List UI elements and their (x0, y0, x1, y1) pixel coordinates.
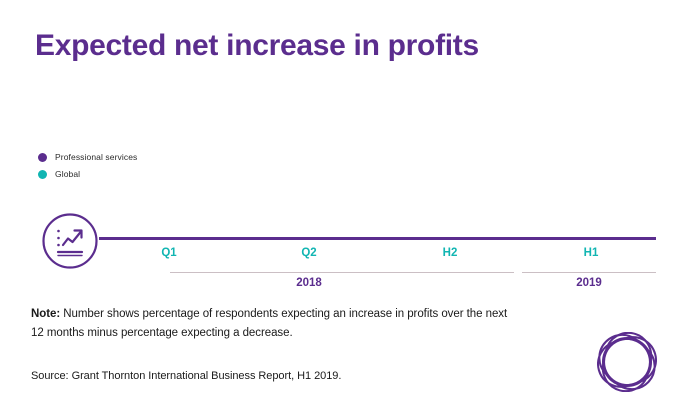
axis-tick-q2: Q2 (283, 247, 335, 259)
legend-dot-icon (38, 153, 47, 162)
year-group-rule-2018 (170, 272, 514, 273)
page-title: Expected net increase in profits (35, 29, 479, 62)
chart-note-prefix: Note: (31, 308, 60, 320)
legend-dot-icon (38, 170, 47, 179)
legend-item-professional-services: Professional services (38, 150, 137, 164)
legend-item-global: Global (38, 167, 137, 181)
axis-tick-h2: H2 (424, 247, 476, 259)
grant-thornton-swirl-logo (597, 332, 657, 392)
chart-note: Note: Number shows percentage of respond… (31, 305, 521, 342)
year-group-label-2018: 2018 (262, 277, 356, 289)
chart-legend: Professional services Global (38, 150, 137, 184)
trend-up-chart-icon (41, 212, 99, 270)
axis-tick-q1: Q1 (143, 247, 195, 259)
year-group-label-2019: 2019 (542, 277, 636, 289)
year-group-rule-2019 (522, 272, 656, 273)
chart-axis-line (99, 237, 656, 240)
axis-tick-h1: H1 (565, 247, 617, 259)
chart-source: Source: Grant Thornton International Bus… (31, 370, 341, 382)
chart-note-text: Number shows percentage of respondents e… (31, 308, 507, 339)
legend-label: Professional services (55, 152, 137, 162)
legend-label: Global (55, 169, 80, 179)
